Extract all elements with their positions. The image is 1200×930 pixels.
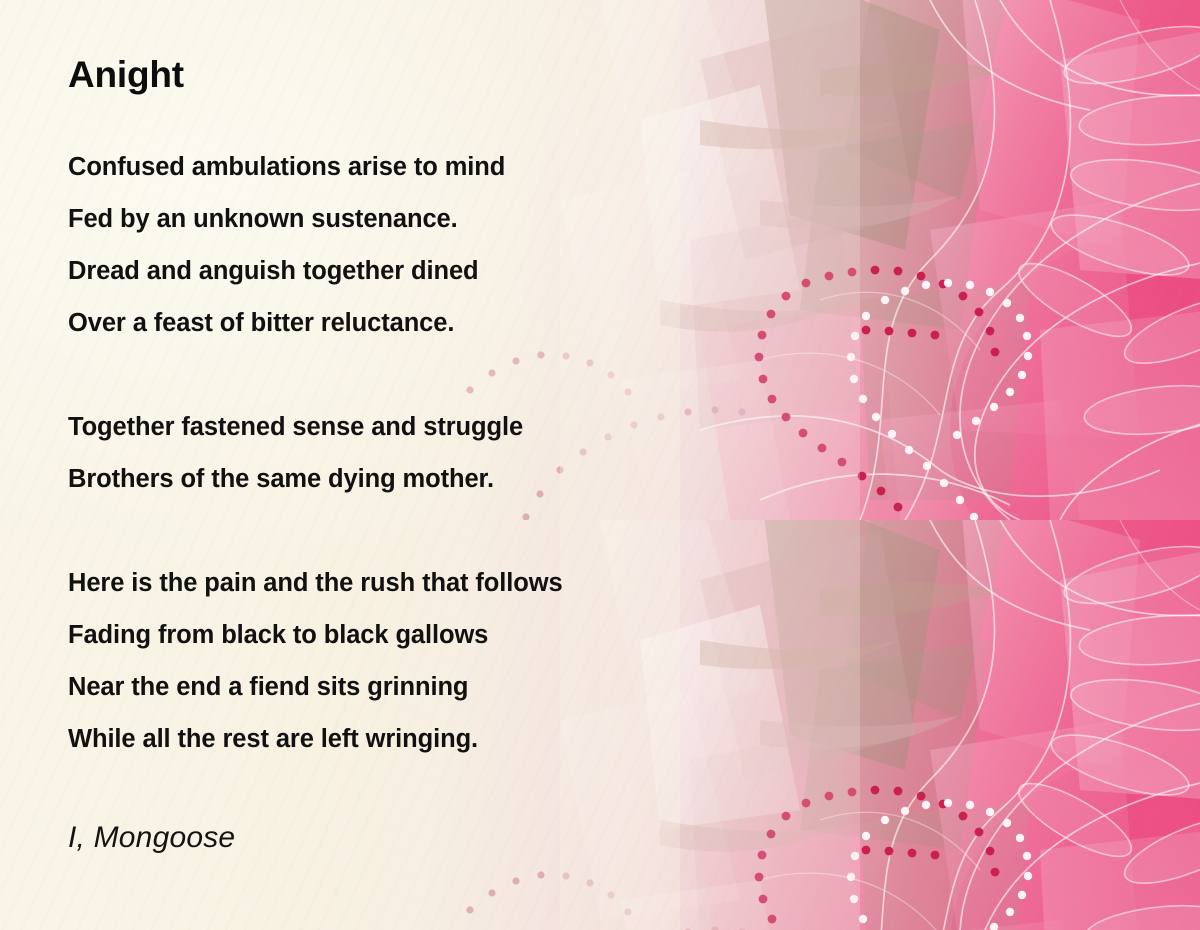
stanza-3: Here is the pain and the rush that follo…: [68, 505, 828, 765]
poem-line: While all the rest are left wringing.: [68, 713, 828, 765]
poem-line: Brothers of the same dying mother.: [68, 453, 828, 505]
page-title: Anight: [68, 0, 828, 93]
poem-body: Anight Confused ambulations arise to min…: [68, 0, 828, 855]
poem-line: Fading from black to black gallows: [68, 609, 828, 661]
poem-card: Anight Confused ambulations arise to min…: [0, 0, 1200, 930]
poem-line: Together fastened sense and struggle: [68, 401, 828, 453]
poem-author: I, Mongoose: [68, 765, 828, 855]
stanza-1: Confused ambulations arise to mind Fed b…: [68, 93, 828, 349]
poem-line: Confused ambulations arise to mind: [68, 141, 828, 193]
poem-line: Dread and anguish together dined: [68, 245, 828, 297]
poem-line: Over a feast of bitter reluctance.: [68, 297, 828, 349]
poem-line: Near the end a fiend sits grinning: [68, 661, 828, 713]
stanza-2: Together fastened sense and struggle Bro…: [68, 349, 828, 505]
poem-line: Here is the pain and the rush that follo…: [68, 557, 828, 609]
poem-line: Fed by an unknown sustenance.: [68, 193, 828, 245]
